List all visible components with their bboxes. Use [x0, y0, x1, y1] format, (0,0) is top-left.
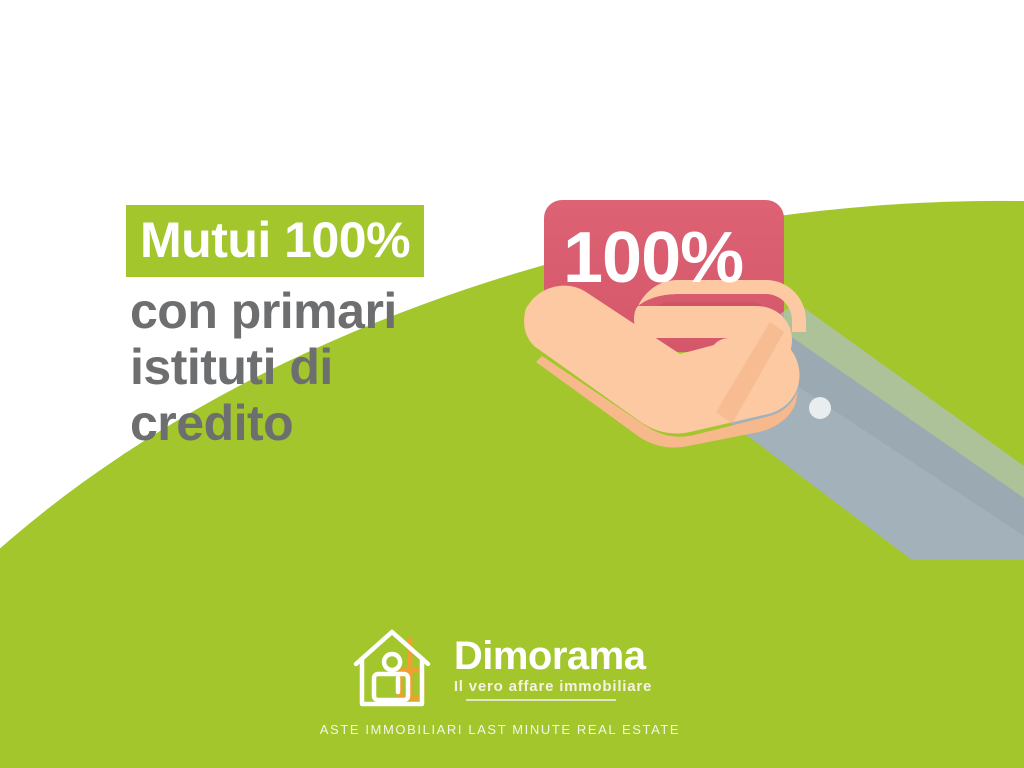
logo-tagline-text: Il vero affare immobiliare: [454, 679, 652, 694]
logo-name-text: Dimorama: [454, 636, 652, 676]
headline-line-2: istituti di: [130, 339, 546, 395]
logo-underline-rule: [466, 699, 616, 701]
headline-line-3: credito: [130, 395, 546, 451]
house-outline-icon: [348, 624, 444, 712]
sleeve-button-icon: [809, 397, 831, 419]
headline-highlight: Mutui 100%: [126, 205, 424, 277]
logo-main-row: Dimorama Il vero affare immobiliare: [348, 622, 652, 714]
promo-banner: 100% Mutui 100% con primari istituti di …: [0, 0, 1024, 768]
logo-wordmark: Dimorama Il vero affare immobiliare: [454, 636, 652, 701]
card-percentage-label: 100%: [563, 222, 743, 294]
logo-subtitle-text: ASTE IMMOBILIARI LAST MINUTE REAL ESTATE: [320, 723, 680, 736]
headline-block: Mutui 100% con primari istituti di credi…: [126, 205, 546, 451]
headline-subtext: con primari istituti di credito: [126, 283, 546, 451]
dimorama-logo[interactable]: Dimorama Il vero affare immobiliare ASTE…: [290, 622, 710, 762]
headline-line-1: con primari: [130, 283, 546, 339]
